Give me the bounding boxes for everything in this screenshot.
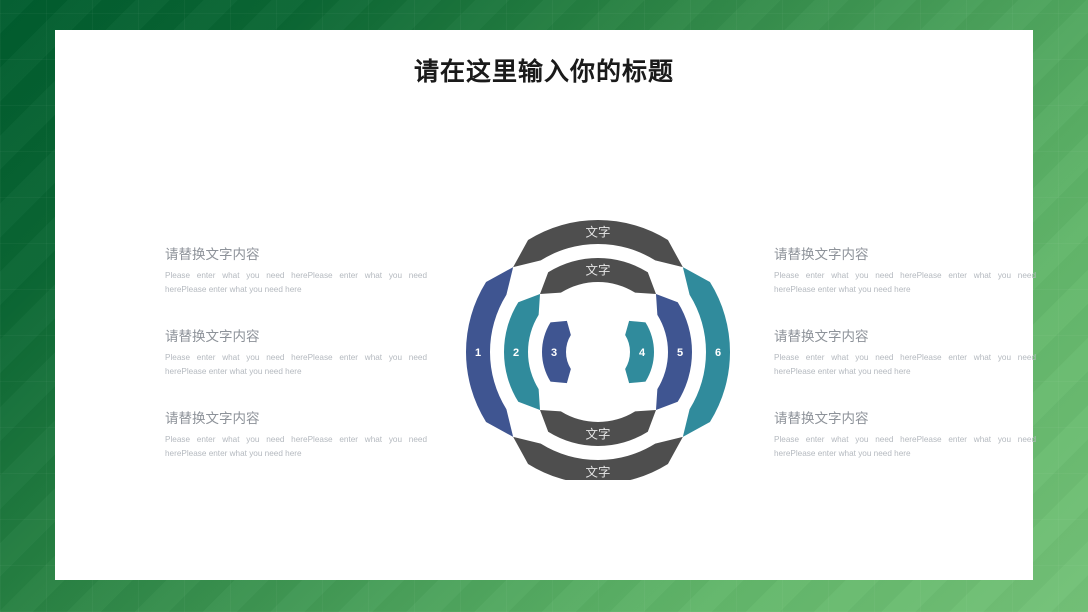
ring-inner-right-number: 4	[639, 347, 646, 359]
ring-outer-left-number: 1	[475, 347, 481, 359]
text-block-heading: 请替换文字内容	[165, 246, 427, 264]
ring-middle-left-number: 2	[513, 347, 519, 359]
text-block-right-3: 请替换文字内容 Please enter what you need hereP…	[774, 410, 1036, 460]
text-block-heading: 请替换文字内容	[774, 246, 1036, 264]
text-block-left-2: 请替换文字内容 Please enter what you need hereP…	[165, 328, 427, 378]
slide-card: 请在这里输入你的标题 请替换文字内容 Please enter what you…	[55, 30, 1033, 580]
text-block-heading: 请替换文字内容	[774, 328, 1036, 346]
text-block-left-1: 请替换文字内容 Please enter what you need hereP…	[165, 246, 427, 296]
ring-middle-right-number: 5	[677, 347, 683, 359]
text-block-heading: 请替换文字内容	[774, 410, 1036, 428]
ring-middle-top-label: 文字	[585, 262, 610, 277]
ring-outer-right-number: 6	[715, 347, 721, 359]
text-block-body: Please enter what you need herePlease en…	[165, 351, 427, 378]
text-block-body: Please enter what you need herePlease en…	[774, 269, 1036, 296]
text-block-right-1: 请替换文字内容 Please enter what you need hereP…	[774, 246, 1036, 296]
ring-middle-right-arc[interactable]	[656, 294, 692, 410]
text-block-body: Please enter what you need herePlease en…	[774, 433, 1036, 460]
ring-outer-top-label: 文字	[585, 224, 610, 239]
concentric-ring-diagram: 文字文字16文字文字2534	[440, 220, 760, 480]
page-title: 请在这里输入你的标题	[55, 52, 1033, 88]
text-block-right-2: 请替换文字内容 Please enter what you need hereP…	[774, 328, 1036, 378]
slide-root: 请在这里输入你的标题 请替换文字内容 Please enter what you…	[0, 0, 1088, 612]
ring-inner-left-number: 3	[551, 347, 557, 359]
text-block-body: Please enter what you need herePlease en…	[165, 433, 427, 460]
text-block-heading: 请替换文字内容	[165, 328, 427, 346]
text-block-body: Please enter what you need herePlease en…	[774, 351, 1036, 378]
ring-outer-bottom-label: 文字	[585, 464, 610, 479]
ring-middle-bottom-label: 文字	[585, 426, 610, 441]
ring-middle-left-arc[interactable]	[504, 294, 540, 410]
text-block-left-3: 请替换文字内容 Please enter what you need hereP…	[165, 410, 427, 460]
text-block-heading: 请替换文字内容	[165, 410, 427, 428]
text-block-body: Please enter what you need herePlease en…	[165, 269, 427, 296]
